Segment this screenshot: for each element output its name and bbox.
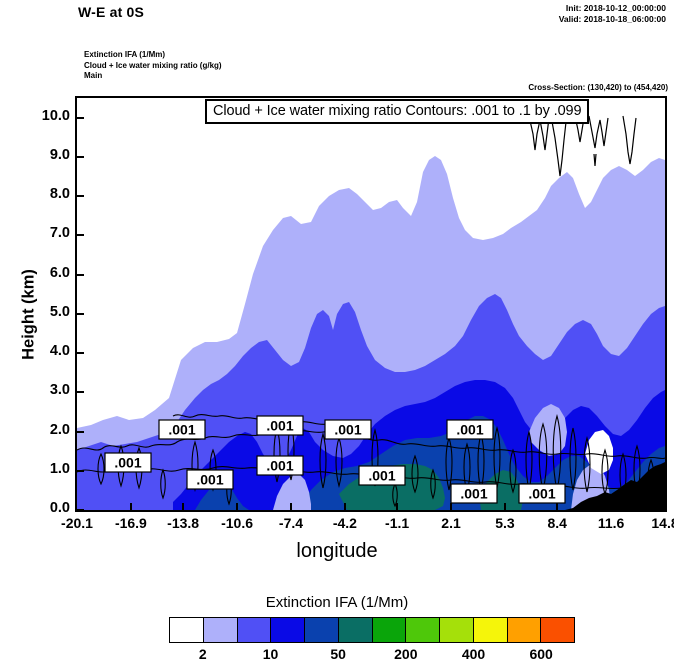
colorbar-cell	[271, 618, 305, 642]
x-axis-labels: -20.1-16.9-13.8-10.6-7.4-4.2-1.12.15.38.…	[0, 515, 674, 537]
y-tick-mark	[75, 274, 84, 276]
forecast-time-block: Init: 2018-10-12_00:00:00 Valid: 2018-10…	[559, 3, 666, 25]
y-tick-label: 8.0	[14, 189, 70, 199]
colorbar-tick-labels: 21050200400600	[0, 645, 674, 665]
x-tick-label: -13.8	[153, 515, 213, 531]
x-tick-label: -16.9	[101, 515, 161, 531]
cross-section-endpoints-label: Cross-Section: (130,420) to (454,420)	[528, 83, 668, 92]
y-tick-mark	[75, 352, 84, 354]
cross-section-plot: .001 .001 .001 .001 .001 .001	[77, 98, 665, 510]
contour-label: .001	[451, 484, 497, 503]
colorbar-cell	[204, 618, 238, 642]
x-tick-mark	[236, 503, 238, 512]
contour-label: .001	[325, 420, 371, 439]
colorbar-tick-label: 200	[381, 645, 431, 663]
colorbar-cell	[541, 618, 574, 642]
contour-label: .001	[187, 470, 233, 489]
init-time-label: Init: 2018-10-12_00:00:00	[559, 3, 666, 14]
field-contour-label: Cloud + Ice water mixing ratio (g/kg)	[84, 61, 222, 72]
x-tick-mark	[396, 503, 398, 512]
y-tick-label: 10.0	[14, 111, 70, 121]
x-tick-mark	[556, 503, 558, 512]
y-tick-label: 7.0	[14, 228, 70, 238]
svg-text:.001: .001	[456, 422, 483, 438]
colorbar-cell	[474, 618, 508, 642]
svg-text:.001: .001	[266, 418, 293, 434]
colorbar-tick-label: 10	[246, 645, 296, 663]
y-tick-label: 1.0	[14, 464, 70, 474]
svg-text:.001: .001	[168, 422, 195, 438]
svg-text:.001: .001	[196, 472, 223, 488]
y-tick-label: 0.0	[14, 503, 70, 513]
plot-area: .001 .001 .001 .001 .001 .001	[77, 98, 665, 510]
field-description-block: Extinction IFA (1/Mm) Cloud + Ice water …	[84, 50, 222, 82]
colorbar-cell	[508, 618, 542, 642]
y-tick-mark	[75, 509, 84, 511]
colorbar-tick-label: 50	[313, 645, 363, 663]
x-tick-mark	[344, 503, 346, 512]
x-tick-mark	[290, 503, 292, 512]
colorbar-cell	[339, 618, 373, 642]
x-tick-label: -4.2	[315, 515, 375, 531]
y-tick-mark	[75, 470, 84, 472]
y-tick-mark	[75, 431, 84, 433]
colorbar-cell	[305, 618, 339, 642]
colorbar	[169, 617, 575, 643]
colorbar-tick-label: 600	[516, 645, 566, 663]
x-tick-label: 14.8	[635, 515, 674, 531]
x-tick-label: -7.4	[261, 515, 321, 531]
colorbar-tick-label: 400	[449, 645, 499, 663]
svg-text:.001: .001	[528, 486, 555, 502]
contour-label: .001	[519, 484, 565, 503]
contour-title-box: Cloud + Ice water mixing ratio Contours:…	[205, 99, 589, 124]
x-tick-mark	[182, 503, 184, 512]
x-axis-title: longitude	[0, 540, 674, 563]
y-tick-mark	[75, 156, 84, 158]
x-tick-mark	[610, 503, 612, 512]
valid-time-label: Valid: 2018-10-18_06:00:00	[559, 14, 666, 25]
colorbar-cell	[373, 618, 407, 642]
x-tick-label: 2.1	[421, 515, 481, 531]
y-tick-label: 3.0	[14, 385, 70, 395]
colorbar-cell	[238, 618, 272, 642]
contour-label: .001	[105, 453, 151, 472]
y-tick-label: 2.0	[14, 425, 70, 435]
x-tick-label: 5.3	[475, 515, 535, 531]
contour-label: .001	[159, 420, 205, 439]
y-tick-mark	[75, 391, 84, 393]
y-tick-mark	[75, 313, 84, 315]
contour-label: .001	[257, 416, 303, 435]
svg-text:.001: .001	[114, 455, 141, 471]
colorbar-title: Extinction IFA (1/Mm)	[0, 594, 674, 611]
svg-text:.001: .001	[460, 486, 487, 502]
y-tick-mark	[75, 117, 84, 119]
y-tick-label: 9.0	[14, 150, 70, 160]
x-tick-label: -10.6	[207, 515, 267, 531]
field-shaded-label: Extinction IFA (1/Mm)	[84, 50, 222, 61]
contour-label: .001	[359, 466, 405, 485]
field-domain-label: Main	[84, 71, 222, 82]
y-tick-mark	[75, 195, 84, 197]
contour-label: .001	[447, 420, 493, 439]
colorbar-cell	[406, 618, 440, 642]
x-tick-mark	[504, 503, 506, 512]
svg-text:.001: .001	[334, 422, 361, 438]
contour-label: .001	[257, 456, 303, 475]
x-tick-label: -1.1	[367, 515, 427, 531]
y-axis-title: Height (km)	[20, 260, 39, 370]
x-tick-label: 8.4	[527, 515, 587, 531]
page-title: W-E at 0S	[78, 4, 144, 20]
x-tick-mark	[130, 503, 132, 512]
x-tick-label: 11.6	[581, 515, 641, 531]
svg-text:.001: .001	[266, 458, 293, 474]
colorbar-cell	[170, 618, 204, 642]
x-tick-label: -20.1	[47, 515, 107, 531]
colorbar-tick-label: 2	[178, 645, 228, 663]
svg-text:.001: .001	[368, 468, 395, 484]
x-tick-mark	[450, 503, 452, 512]
colorbar-cell	[440, 618, 474, 642]
y-axis-labels: 0.01.02.03.04.05.06.07.08.09.010.0	[8, 96, 70, 512]
y-tick-mark	[75, 234, 84, 236]
